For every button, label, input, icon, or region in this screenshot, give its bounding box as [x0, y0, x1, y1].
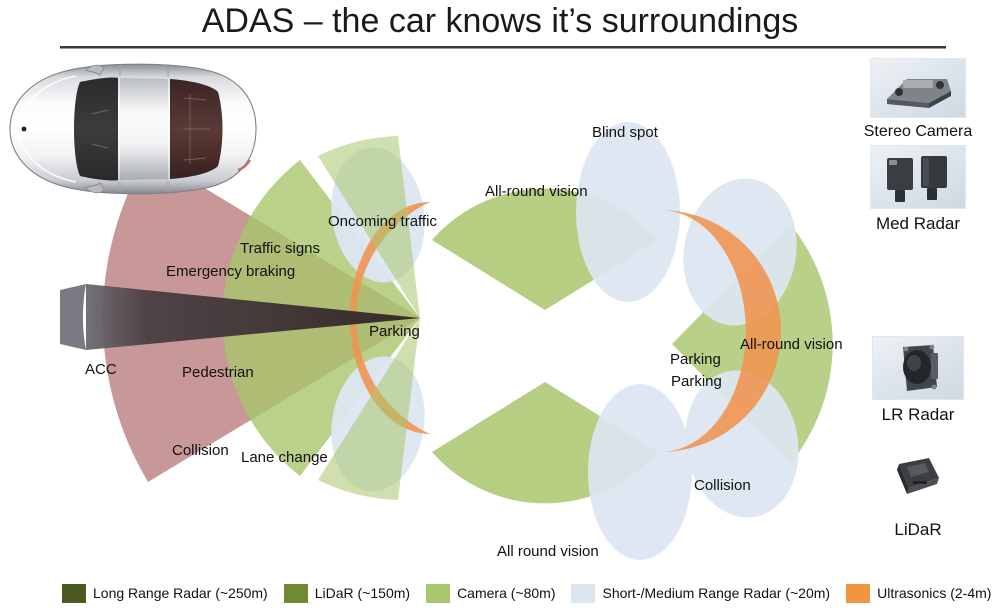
label-all-round-vision-bottom: All round vision: [497, 544, 599, 559]
label-blind-spot: Blind spot: [592, 125, 658, 140]
legend-label-camera: Camera (~80m): [457, 585, 555, 601]
label-acc: ACC: [85, 362, 117, 377]
legend-label-lidar: LiDaR (~150m): [315, 585, 410, 601]
label-all-round-vision-right: All-round vision: [740, 337, 843, 352]
label-emergency-braking: Emergency braking: [166, 264, 295, 279]
legend-item-ultrasonics[interactable]: Ultrasonics (2-4m): [846, 584, 991, 603]
label-pedestrian: Pedestrian: [182, 365, 254, 380]
label-lane-change: Lane change: [241, 450, 328, 465]
stereo-camera-icon: [870, 58, 966, 118]
zone-acc-endcap: [60, 284, 86, 350]
sensor-caption-med-radar: Med Radar: [836, 214, 1000, 234]
lidar-icon: [873, 448, 963, 502]
med-radar-icon: [870, 145, 966, 209]
sensor-caption-stereo-camera: Stereo Camera: [836, 123, 1000, 141]
legend-label-short-med-radar: Short-/Medium Range Radar (~20m): [602, 585, 830, 601]
sensor-card-lidar: LiDaR: [836, 448, 1000, 540]
label-oncoming-traffic: Oncoming traffic: [328, 214, 437, 229]
legend: Long Range Radar (~250m) LiDaR (~150m) C…: [0, 578, 1000, 608]
legend-swatch-short-med-radar: [571, 584, 595, 603]
adas-slide: ADAS – the car knows it’s surroundings: [0, 0, 1000, 612]
sensor-rail: Stereo Camera Med Radar: [836, 58, 1000, 558]
sensor-card-med-radar: Med Radar: [836, 145, 1000, 234]
legend-swatch-lidar: [284, 584, 308, 603]
legend-label-ultrasonics: Ultrasonics (2-4m): [877, 585, 991, 601]
legend-swatch-camera: [426, 584, 450, 603]
zone-short-radar-bottom-right: [588, 384, 692, 560]
legend-item-lidar[interactable]: LiDaR (~150m): [284, 584, 410, 603]
lr-radar-icon: [872, 336, 964, 400]
sensor-caption-lr-radar: LR Radar: [836, 405, 1000, 425]
legend-item-short-med-radar[interactable]: Short-/Medium Range Radar (~20m): [571, 584, 830, 603]
sensor-caption-lidar: LiDaR: [836, 520, 1000, 540]
legend-swatch-long-range-radar: [62, 584, 86, 603]
title-divider: [60, 46, 946, 49]
label-collision-right: Collision: [694, 478, 751, 493]
label-all-round-vision-top: All-round vision: [485, 184, 588, 199]
label-parking-right: Parking: [671, 374, 722, 389]
legend-item-long-range-radar[interactable]: Long Range Radar (~250m): [62, 584, 268, 603]
sensor-card-stereo-camera: Stereo Camera: [836, 58, 1000, 141]
legend-swatch-ultrasonics: [846, 584, 870, 603]
car-front-sensor-dot: [22, 127, 27, 132]
car-windshield: [74, 77, 118, 180]
label-parking-rear: Parking: [670, 352, 721, 367]
label-traffic-signs: Traffic signs: [240, 241, 320, 256]
legend-item-camera[interactable]: Camera (~80m): [426, 584, 555, 603]
car-top-view: [0, 52, 265, 207]
page-title: ADAS – the car knows it’s surroundings: [0, 2, 1000, 41]
legend-label-long-range-radar: Long Range Radar (~250m): [93, 585, 268, 601]
sensor-card-lr-radar: LR Radar: [836, 336, 1000, 425]
car-roof: [120, 78, 168, 180]
zone-short-radar-top-right: [576, 122, 680, 302]
label-parking-front: Parking: [369, 324, 420, 339]
label-collision-left: Collision: [172, 443, 229, 458]
